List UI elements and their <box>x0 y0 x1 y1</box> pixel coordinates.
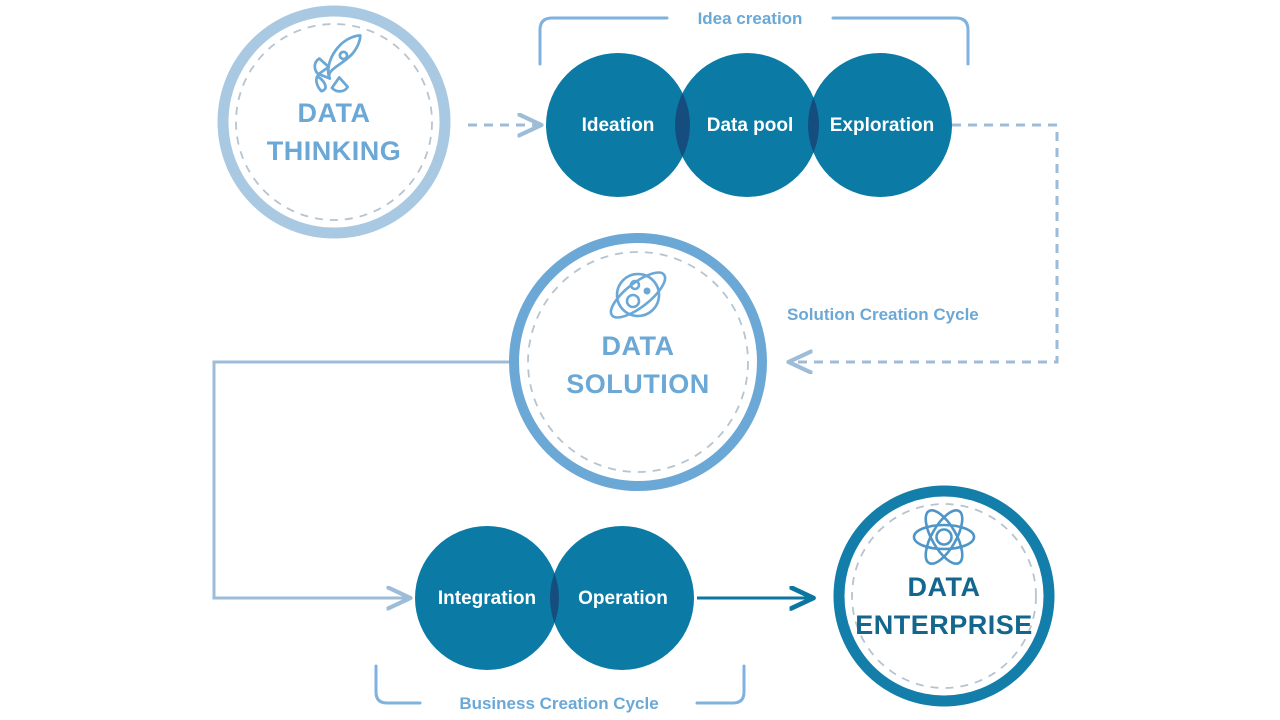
label-integration: Integration <box>438 588 536 609</box>
data-enterprise-line1: DATA <box>908 572 981 602</box>
diagram-svg: Idea creation Ideation Data pool Explora… <box>0 0 1280 720</box>
bracket-business-creation-cycle: Business Creation Cycle <box>376 666 744 713</box>
idea-circle-group: Ideation Data pool Exploration <box>546 53 952 197</box>
data-solution-line2: SOLUTION <box>566 369 710 399</box>
ring-data-enterprise[interactable]: DATA ENTERPRISE <box>839 491 1049 701</box>
business-circle-group: Integration Operation <box>415 526 694 670</box>
label-operation: Operation <box>578 588 668 609</box>
data-solution-line1: DATA <box>602 331 675 361</box>
diagram-canvas: Idea creation Ideation Data pool Explora… <box>0 0 1280 720</box>
label-data-pool: Data pool <box>707 115 794 136</box>
solution-creation-cycle-label: Solution Creation Cycle <box>787 305 979 324</box>
data-thinking-line1: DATA <box>298 98 371 128</box>
idea-creation-label: Idea creation <box>698 9 803 28</box>
data-thinking-line2: THINKING <box>267 136 402 166</box>
data-enterprise-line2: ENTERPRISE <box>855 610 1033 640</box>
business-creation-cycle-label: Business Creation Cycle <box>459 694 658 713</box>
ring-data-thinking[interactable]: DATA THINKING <box>223 11 445 233</box>
ring-data-solution[interactable]: DATA SOLUTION <box>514 238 762 486</box>
label-exploration: Exploration <box>830 115 935 136</box>
label-ideation: Ideation <box>582 115 655 136</box>
